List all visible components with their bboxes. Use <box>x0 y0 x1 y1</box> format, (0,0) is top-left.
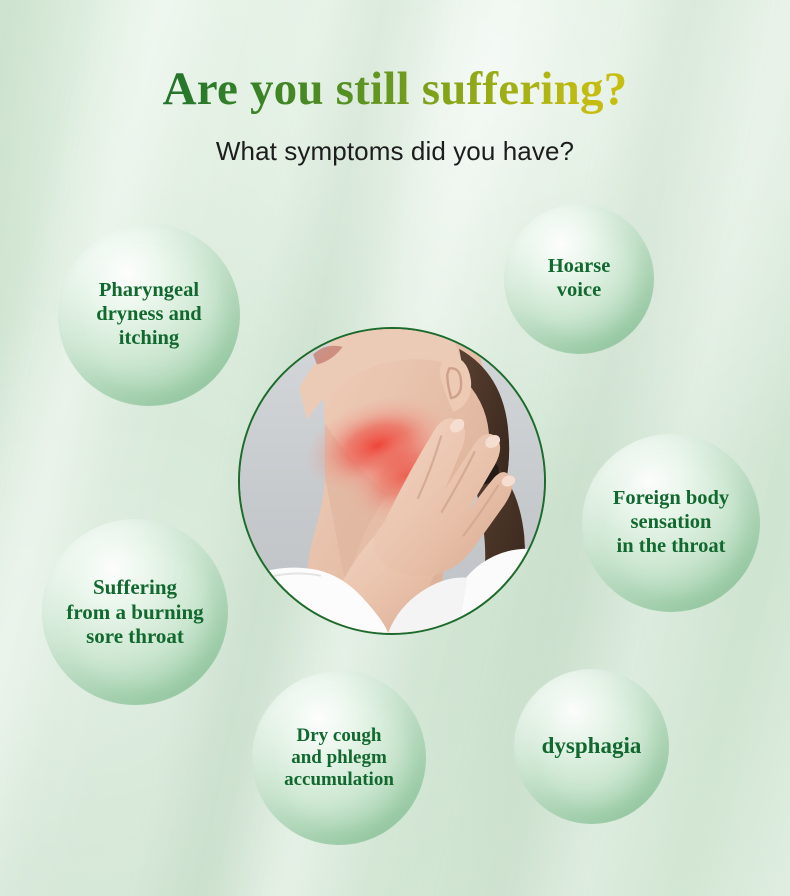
symptom-line: sensation <box>582 511 760 535</box>
symptom-label-hoarse-voice: Hoarse voice <box>548 255 611 303</box>
symptom-line: Pharyngeal <box>96 279 201 303</box>
symptom-line: Dry cough <box>284 725 394 747</box>
symptom-bubble-hoarse-voice[interactable]: Hoarse voice <box>504 204 654 354</box>
symptom-line: dysphagia <box>542 733 642 760</box>
symptom-bubble-sore-throat[interactable]: Suffering from a burning sore throat <box>42 519 228 705</box>
throat-pain-illustration <box>240 329 544 633</box>
poster-canvas: Are you still suffering? What symptoms d… <box>0 0 790 896</box>
symptom-label-dysphagia: dysphagia <box>542 733 642 760</box>
symptom-bubble-pharyngeal[interactable]: Pharyngeal dryness and itching <box>58 224 240 406</box>
page-title: Are you still suffering? <box>0 62 790 116</box>
symptom-line: dryness and <box>96 303 201 327</box>
symptom-bubble-dry-cough[interactable]: Dry cough and phlegm accumulation <box>252 671 426 845</box>
symptom-label-sore-throat: Suffering from a burning sore throat <box>42 575 228 648</box>
symptom-line: itching <box>96 327 201 351</box>
symptom-label-dry-cough: Dry cough and phlegm accumulation <box>284 725 394 791</box>
page-subtitle: What symptoms did you have? <box>0 136 790 167</box>
symptom-line: from a burning <box>42 600 228 624</box>
symptom-bubble-dysphagia[interactable]: dysphagia <box>514 669 669 824</box>
symptom-label-foreign-body: Foreign body sensation in the throat <box>582 487 760 558</box>
symptom-line: and phlegm <box>284 747 394 769</box>
symptom-label-pharyngeal: Pharyngeal dryness and itching <box>96 279 201 350</box>
symptom-line: accumulation <box>284 769 394 791</box>
symptom-line: Suffering <box>42 575 228 599</box>
symptom-line: voice <box>548 279 611 303</box>
symptom-line: sore throat <box>42 624 228 648</box>
symptom-line: Foreign body <box>582 487 760 511</box>
symptom-bubble-foreign-body[interactable]: Foreign body sensation in the throat <box>582 434 760 612</box>
throat-pain-photo <box>238 327 546 635</box>
symptom-line: Hoarse <box>548 255 611 279</box>
symptom-line: in the throat <box>582 535 760 559</box>
